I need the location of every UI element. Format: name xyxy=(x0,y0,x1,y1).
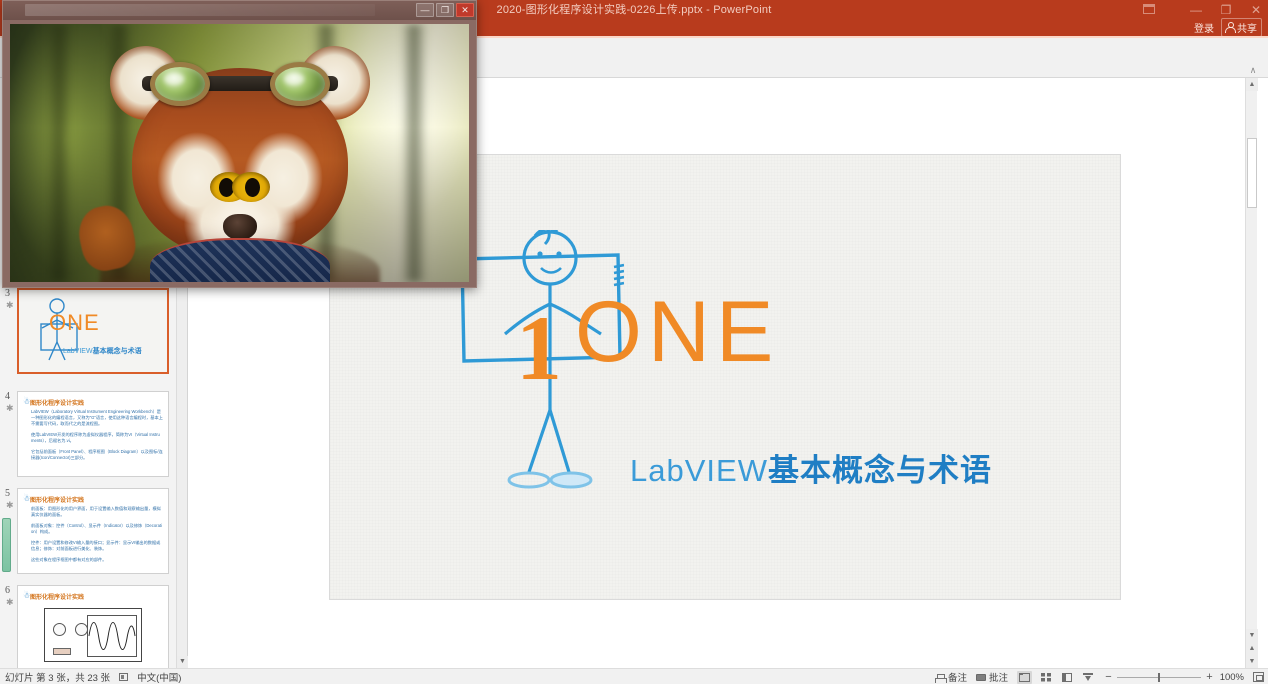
thumbnail-paragraph: 前面板：用图形化的用户界面，用于设置输入数值和观察输出量，模拟真实仪器的面板。 xyxy=(31,506,163,518)
thumbnail-subtitle-cn: 基本概念与术语 xyxy=(93,348,142,355)
media-player-window[interactable]: — ❐ ✕ xyxy=(2,0,477,288)
share-button[interactable]: 共享 xyxy=(1221,18,1262,37)
status-bar-right: 备注 批注 − + 100% xyxy=(935,669,1264,684)
restore-button[interactable]: ❐ xyxy=(1218,2,1234,18)
notes-button[interactable]: 备注 xyxy=(935,670,967,684)
thumbnail-subtitle-latin: LabVIEW xyxy=(63,348,93,355)
zoom-slider-handle[interactable] xyxy=(1158,673,1160,682)
slide-subtitle-latin: LabVIEW xyxy=(630,453,768,488)
sign-in-link[interactable]: 登录 xyxy=(1194,20,1214,35)
slide-number: 5 xyxy=(5,488,10,499)
thumbnail-paragraph: 它包括前面板（Front Panel）、程序框图（Block Diagram）以… xyxy=(31,449,163,461)
close-button[interactable]: ✕ xyxy=(1248,2,1264,18)
zoom-slider-track[interactable] xyxy=(1117,677,1201,678)
collapse-ribbon-button[interactable]: ∧ xyxy=(1248,65,1258,75)
slide-subtitle[interactable]: LabVIEW基本概念与术语 xyxy=(630,445,992,490)
slide-number: 6 xyxy=(5,585,10,596)
slide-animation-star-icon: ✱ xyxy=(6,598,14,607)
view-slideshow-button[interactable] xyxy=(1080,671,1095,684)
accessibility-checker-icon[interactable] xyxy=(119,673,128,681)
slide-vertical-scrollbar[interactable]: ▲ ▼ ▲ ▼ xyxy=(1245,78,1257,668)
comments-icon xyxy=(976,674,986,681)
person-share-icon xyxy=(1225,22,1234,32)
slide-animation-star-icon: ✱ xyxy=(6,501,14,510)
previous-slide-button[interactable]: ▲ xyxy=(1246,642,1258,655)
thumbnail-one-text: ONE xyxy=(49,310,100,336)
thumbnail-paragraph: 控件：用户设置和修改VI输入量的接口；显示件：显示VI输出的数据或信息；修饰：对… xyxy=(31,540,163,552)
media-maximize-button[interactable]: ❐ xyxy=(436,3,454,17)
heading-bullet-icon: ☃ xyxy=(23,591,29,600)
zoom-control: − + 100% xyxy=(1104,672,1244,683)
view-slide-sorter-button[interactable] xyxy=(1038,671,1053,684)
next-slide-button[interactable]: ▼ xyxy=(1246,655,1258,668)
panda-eye-right xyxy=(232,172,270,202)
view-normal-icon xyxy=(1019,673,1030,682)
knob-icon xyxy=(53,623,66,636)
thumbnail-paragraph: 使用LabVIEW开发的程序称为虚拟仪器程序，简称为VI（Virtual Ins… xyxy=(31,432,163,444)
thumbnail-body: LabVIEW（Laboratory Virtual Instrument En… xyxy=(31,409,163,466)
thumbnail-paragraph: 前面板对象：控件（Control）、显示件（Indicator）以及修饰（Dec… xyxy=(31,523,163,535)
heading-bullet-icon: ☃ xyxy=(23,397,29,406)
view-slideshow-icon xyxy=(1083,673,1093,682)
share-label: 共享 xyxy=(1237,20,1257,35)
media-player-titlebar[interactable]: — ❐ ✕ xyxy=(3,1,476,20)
thumbnail-body: 前面板：用图形化的用户界面，用于设置输入数值和观察输出量，模拟真实仪器的面板。 … xyxy=(31,506,163,568)
media-window-controls: — ❐ ✕ xyxy=(416,3,474,17)
thumbnail-scroll-down-button[interactable]: ▼ xyxy=(177,656,188,668)
slide-animation-star-icon: ✱ xyxy=(6,404,14,413)
scroll-up-button[interactable]: ▲ xyxy=(1246,78,1258,91)
video-surface[interactable] xyxy=(10,24,469,282)
media-close-button[interactable]: ✕ xyxy=(456,3,474,17)
panda-bandana xyxy=(150,238,330,282)
thumbnail-heading: 图形化程序设计实践 xyxy=(30,398,84,407)
slide-thumbnail-5[interactable]: ☃ 图形化程序设计实践 前面板：用图形化的用户界面，用于设置输入数值和观察输出量… xyxy=(17,488,169,574)
status-bar-left: 幻灯片 第 3 张，共 23 张 中文(中国) xyxy=(5,669,181,684)
view-mode-buttons xyxy=(1017,671,1095,684)
vi-front-panel-preview xyxy=(44,608,142,662)
thumbnail-paragraph: 这些对象在程序框图中都有对应的部件。 xyxy=(31,557,163,563)
waveform-graph-preview xyxy=(87,615,137,657)
scroll-down-button[interactable]: ▼ xyxy=(1246,629,1258,642)
panda-nose xyxy=(223,214,257,240)
slide-animation-star-icon: ✱ xyxy=(6,301,14,310)
notes-icon xyxy=(935,673,945,682)
account-area: 登录 共享 xyxy=(1194,19,1262,35)
slide-number: 4 xyxy=(5,391,10,402)
slide-thumbnail-6[interactable]: ☃ 图形化程序设计实践 xyxy=(17,585,169,671)
view-reading-button[interactable] xyxy=(1059,671,1074,684)
language-indicator[interactable]: 中文(中国) xyxy=(137,670,181,684)
red-panda-character xyxy=(90,38,390,282)
goggles-icon xyxy=(142,62,338,106)
notes-label: 备注 xyxy=(948,670,967,684)
thumbnail-heading: 图形化程序设计实践 xyxy=(30,495,84,504)
scrollbar-thumb[interactable] xyxy=(1247,138,1257,208)
view-slide-sorter-icon xyxy=(1041,673,1051,682)
media-minimize-button[interactable]: — xyxy=(416,3,434,17)
thumbnail-paragraph: LabVIEW（Laboratory Virtual Instrument En… xyxy=(31,409,163,427)
view-normal-button[interactable] xyxy=(1017,671,1032,684)
heading-bullet-icon: ☃ xyxy=(23,494,29,503)
comments-button[interactable]: 批注 xyxy=(976,670,1008,684)
status-bar: 幻灯片 第 3 张，共 23 张 中文(中国) 备注 批注 xyxy=(0,668,1268,684)
ribbon-display-options-icon[interactable] xyxy=(1142,2,1156,16)
fit-slide-to-window-icon[interactable] xyxy=(1253,672,1264,682)
stop-button-preview xyxy=(53,648,71,655)
slide-subtitle-cn: 基本概念与术语 xyxy=(768,453,992,488)
screen: 2020-图形化程序设计实践-0226上传.pptx - PowerPoint … xyxy=(0,0,1268,684)
thumbnail-subtitle: LabVIEW基本概念与术语 xyxy=(63,346,142,356)
zoom-out-button[interactable]: − xyxy=(1104,672,1113,682)
zoom-percent-label[interactable]: 100% xyxy=(1218,672,1244,683)
slide-number: 3 xyxy=(5,288,10,299)
view-reading-icon xyxy=(1062,673,1072,682)
slide-counter[interactable]: 幻灯片 第 3 张，共 23 张 xyxy=(5,670,110,684)
media-player-title xyxy=(25,4,375,16)
slide-one-word-text: ONE xyxy=(575,283,779,382)
slide-number-one-text: 1 xyxy=(516,295,562,401)
zoom-in-button[interactable]: + xyxy=(1205,672,1214,682)
comments-label: 批注 xyxy=(989,670,1008,684)
minimize-button[interactable]: — xyxy=(1188,2,1204,18)
thumbnail-preview: ONE LabVIEW基本概念与术语 xyxy=(19,290,167,372)
slide-thumbnail-3[interactable]: ONE LabVIEW基本概念与术语 xyxy=(17,288,169,374)
thumbnail-heading: 图形化程序设计实践 xyxy=(30,592,84,601)
slide-thumbnail-4[interactable]: ☃ 图形化程序设计实践 LabVIEW（Laboratory Virtual I… xyxy=(17,391,169,477)
